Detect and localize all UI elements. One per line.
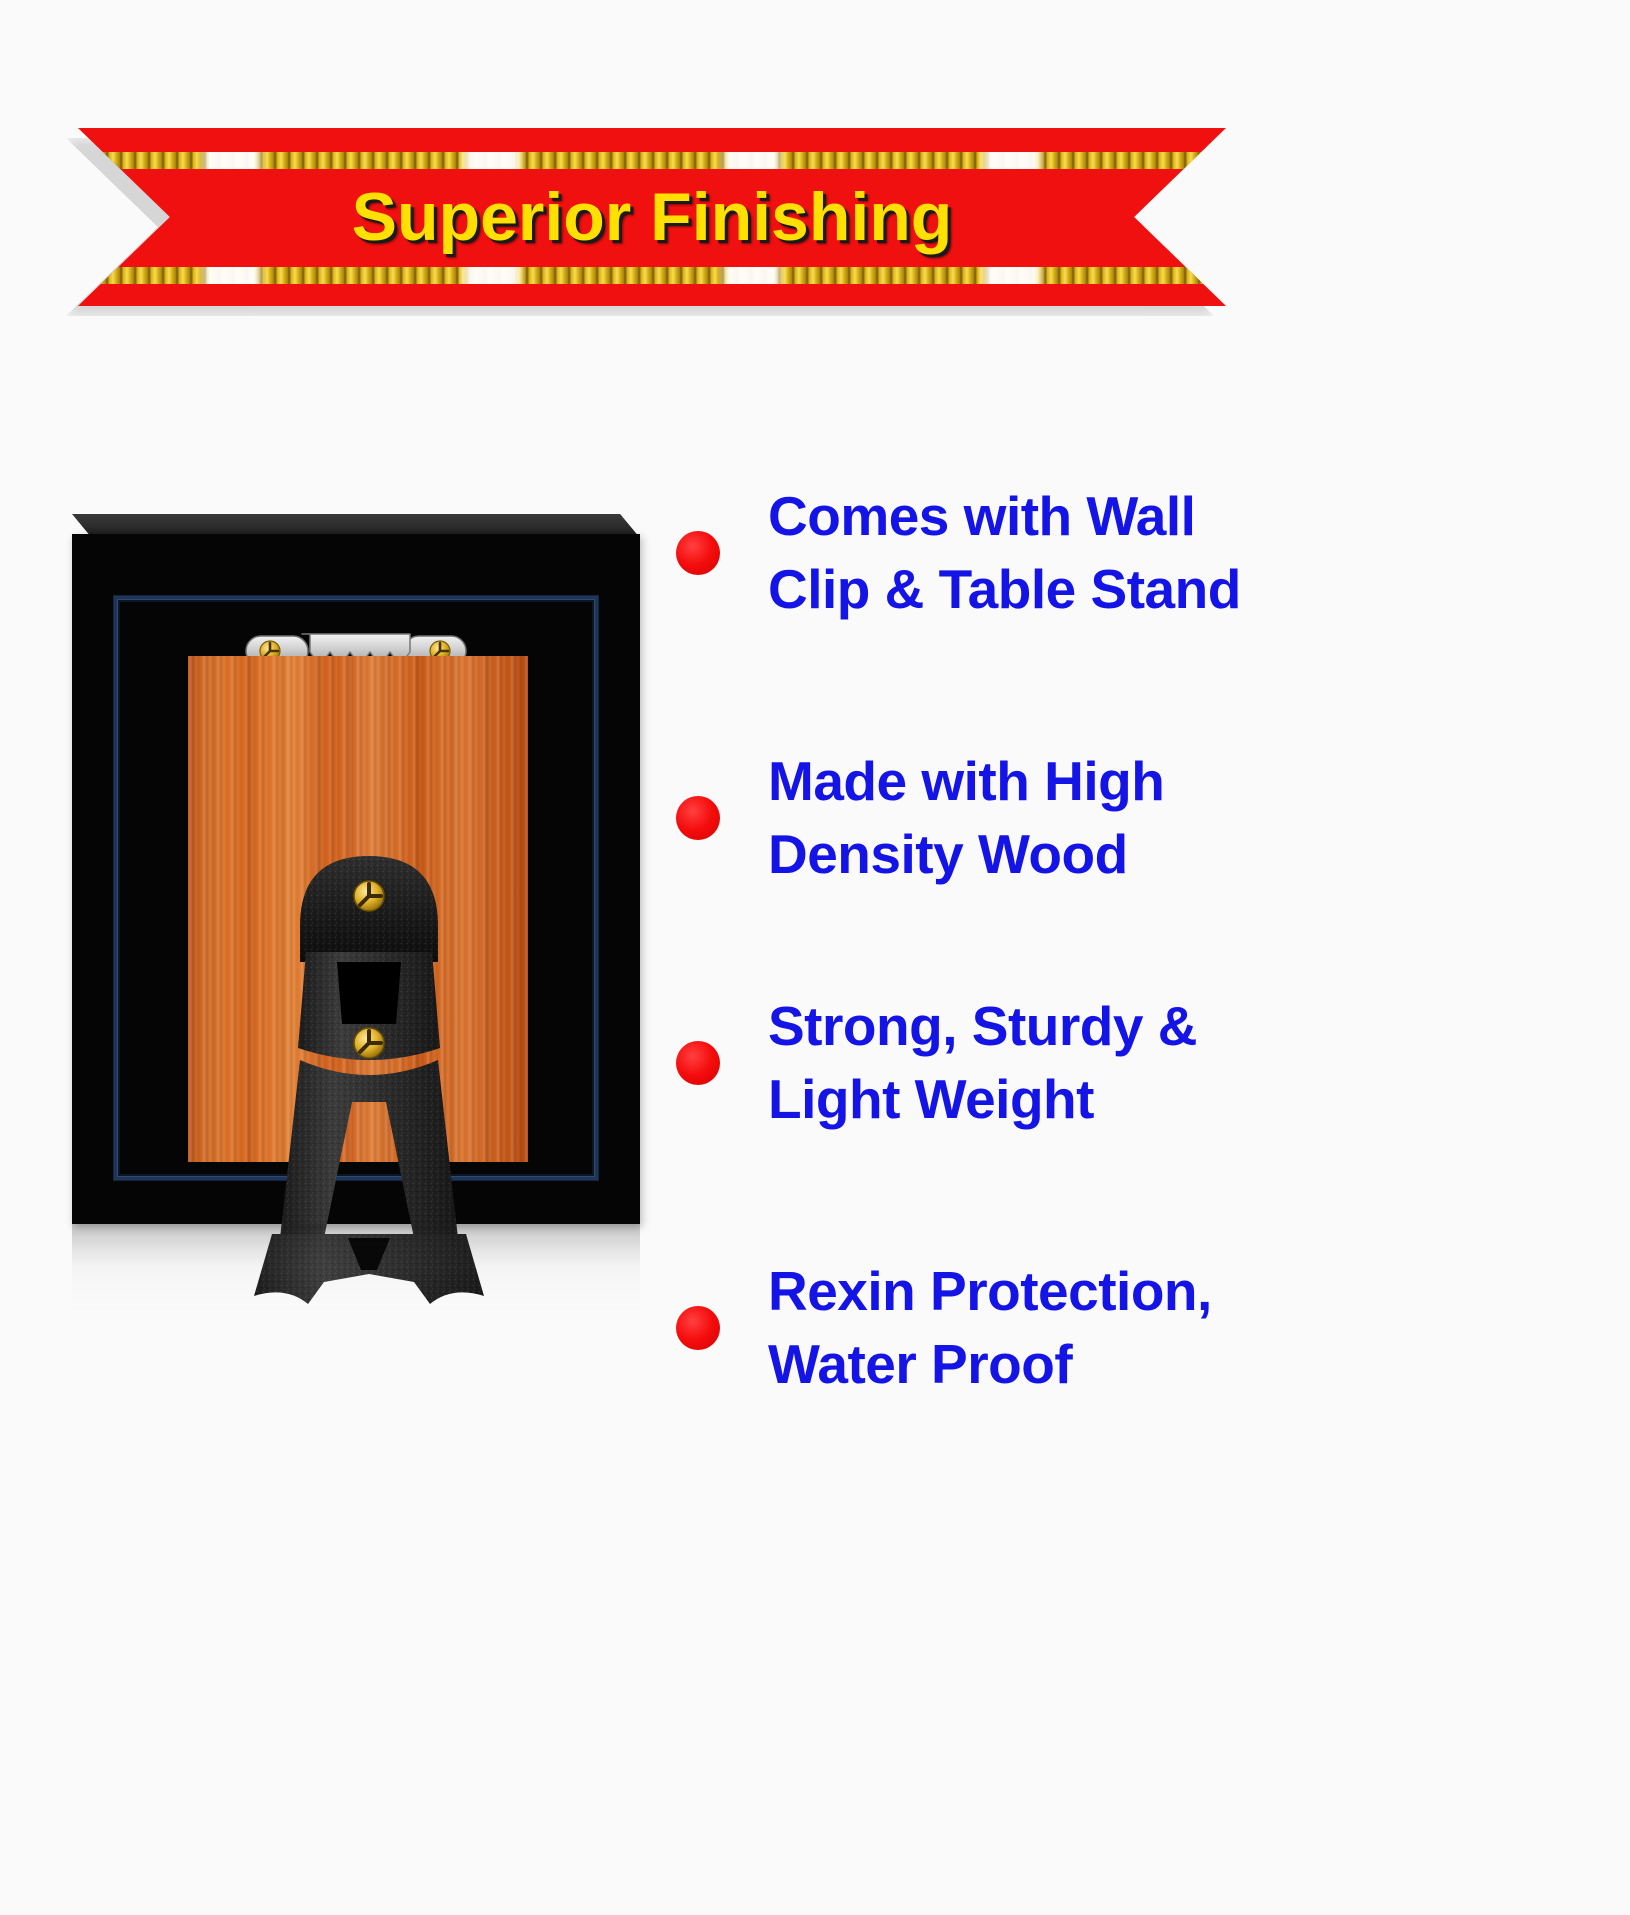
- feature-item-wall-clip-table-stand: Comes with Wall Clip & Table Stand: [676, 480, 1576, 625]
- feature-line-1: Rexin Protection,: [768, 1255, 1212, 1328]
- gold-stripe-top-decoration: [78, 152, 1226, 169]
- feature-line-2: Water Proof: [768, 1328, 1212, 1401]
- feature-text: Made with High Density Wood: [768, 745, 1164, 890]
- plaque-black-frame: [72, 534, 640, 1224]
- gold-stripe-bottom-decoration: [78, 267, 1226, 284]
- feature-item-strong-sturdy-light: Strong, Sturdy & Light Weight: [676, 990, 1576, 1135]
- feature-text: Rexin Protection, Water Proof: [768, 1255, 1212, 1400]
- feature-line-2: Density Wood: [768, 818, 1164, 891]
- feature-text: Strong, Sturdy & Light Weight: [768, 990, 1197, 1135]
- feature-line-1: Made with High: [768, 745, 1164, 818]
- feature-line-1: Comes with Wall: [768, 480, 1241, 553]
- bullet-dot-icon: [676, 1041, 720, 1085]
- feature-item-high-density-wood: Made with High Density Wood: [676, 745, 1576, 890]
- banner-ribbon: Superior Finishing: [78, 128, 1226, 306]
- feature-line-2: Clip & Table Stand: [768, 553, 1241, 626]
- feature-line-2: Light Weight: [768, 1063, 1197, 1136]
- product-image-plaque: [72, 514, 640, 1314]
- banner-body: Superior Finishing: [78, 128, 1226, 306]
- banner-title: Superior Finishing: [78, 178, 1226, 256]
- product-reflection: [72, 1224, 640, 1320]
- feature-text: Comes with Wall Clip & Table Stand: [768, 480, 1241, 625]
- bullet-dot-icon: [676, 531, 720, 575]
- feature-line-1: Strong, Sturdy &: [768, 990, 1197, 1063]
- feature-item-rexin-water-proof: Rexin Protection, Water Proof: [676, 1255, 1576, 1400]
- bullet-dot-icon: [676, 1306, 720, 1350]
- bullet-dot-icon: [676, 796, 720, 840]
